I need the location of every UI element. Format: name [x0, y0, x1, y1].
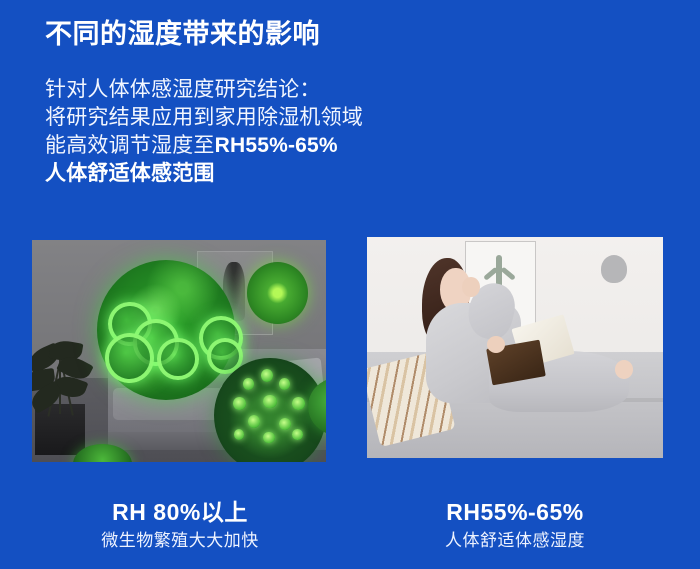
germ-dot: [243, 378, 254, 390]
germ-dot: [279, 378, 290, 390]
germ-dot: [263, 432, 274, 444]
germ-bubble: [105, 333, 154, 383]
foot: [615, 360, 633, 379]
germ-dot: [292, 397, 304, 410]
photo-high-humidity: [32, 240, 326, 462]
germ-dot: [234, 429, 244, 439]
germ-bubble: [157, 338, 198, 380]
body-line-3-prefix: 能高效调节湿度至: [45, 134, 215, 157]
body-line-3-range: RH55%-65%: [215, 134, 338, 157]
humidity-infographic-slide: 不同的湿度带来的影响 针对人体体感湿度研究结论： 将研究结果应用到家用除湿机领域…: [0, 0, 700, 569]
caption-comfort-humidity: RH55%-65% 人体舒适体感湿度: [367, 498, 663, 553]
woman-reading: [408, 255, 633, 441]
germ-dot: [279, 418, 291, 431]
caption-high-humidity: RH 80%以上 微生物繁殖大大加快: [32, 498, 328, 553]
germ-dot: [292, 429, 302, 439]
caption-title: RH 80%以上: [32, 498, 328, 526]
body-line-3: 能高效调节湿度至RH55%-65%: [45, 132, 363, 160]
germ-dot: [233, 397, 245, 410]
caption-title: RH55%-65%: [367, 498, 663, 526]
potted-plant: [32, 333, 97, 455]
germ-cluster-large: [97, 260, 235, 400]
body-line-1: 针对人体体感湿度研究结论：: [45, 76, 363, 104]
body-copy: 针对人体体感湿度研究结论： 将研究结果应用到家用除湿机领域 能高效调节湿度至RH…: [45, 76, 363, 188]
body-line-2: 将研究结果应用到家用除湿机领域: [45, 104, 363, 132]
germ-dot: [263, 395, 276, 409]
bright-room-scene: [367, 237, 663, 458]
caption-subtitle: 微生物繁殖大大加快: [32, 529, 328, 553]
germ-dot: [248, 415, 260, 428]
body-line-4: 人体舒适体感范围: [45, 160, 363, 188]
caption-subtitle: 人体舒适体感湿度: [367, 529, 663, 553]
dark-room-scene: [32, 240, 326, 462]
page-title: 不同的湿度带来的影响: [45, 17, 320, 51]
photo-comfort-humidity: [367, 237, 663, 458]
germ-dot: [261, 369, 273, 382]
